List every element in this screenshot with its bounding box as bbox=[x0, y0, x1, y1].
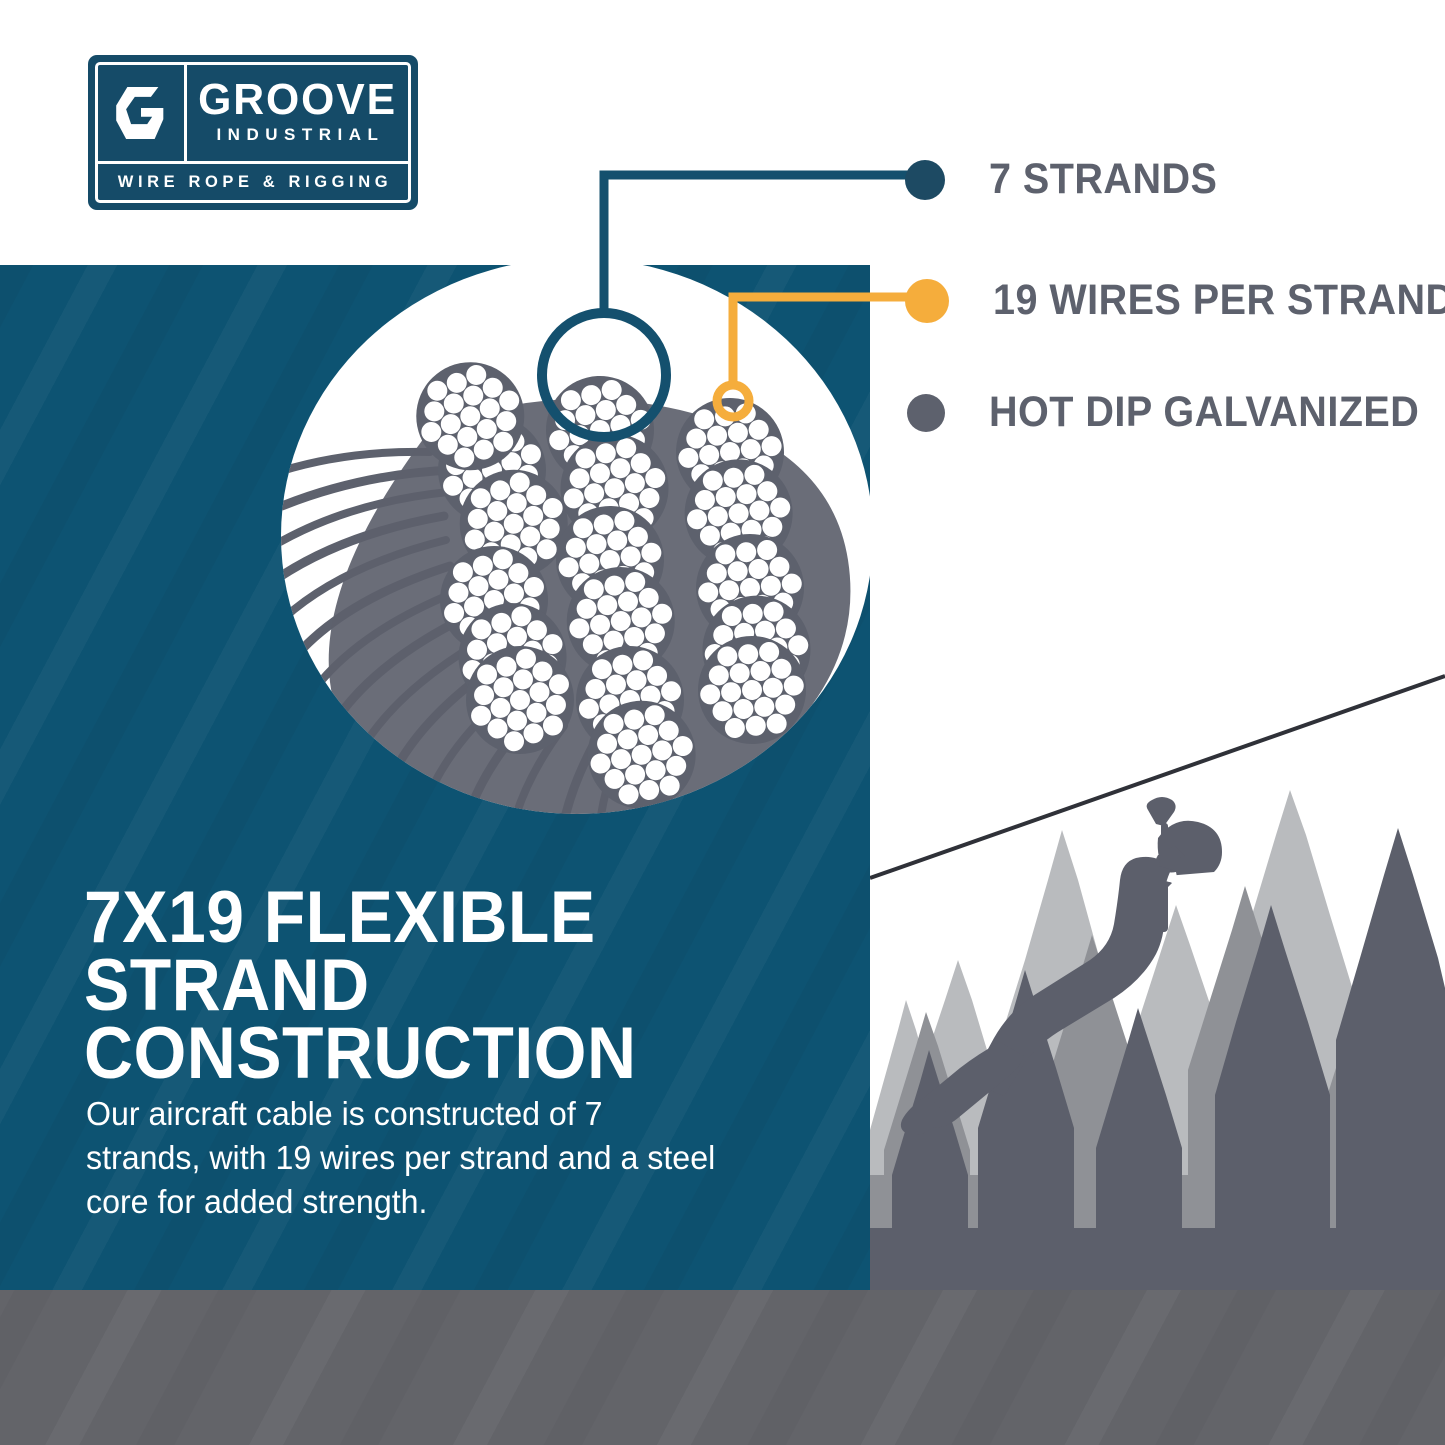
headline-line-2: STRAND CONSTRUCTION bbox=[84, 952, 791, 1088]
callout-label: 7 STRANDS bbox=[989, 155, 1217, 204]
logo-name: GROOVE bbox=[198, 79, 397, 121]
bottom-gray-band bbox=[0, 1290, 1445, 1445]
page-title: 7X19 FLEXIBLE STRAND CONSTRUCTION bbox=[84, 884, 791, 1088]
callout-dot-gray bbox=[907, 394, 945, 432]
logo-wordmark: GROOVE INDUSTRIAL bbox=[187, 65, 408, 161]
callout-19-wires-per-strand: 19 WIRES PER STRAND bbox=[905, 276, 1445, 325]
callout-label: 19 WIRES PER STRAND bbox=[993, 276, 1445, 325]
callout-hot-dip-galvanized: HOT DIP GALVANIZED bbox=[907, 388, 1445, 437]
zipline-cable bbox=[870, 676, 1445, 878]
illustration-circle-backdrop bbox=[281, 258, 873, 814]
callout-label: HOT DIP GALVANIZED bbox=[989, 388, 1419, 437]
body-description: Our aircraft cable is constructed of 7 s… bbox=[86, 1093, 720, 1226]
infographic-canvas: GROOVE INDUSTRIAL WIRE ROPE & RIGGING 7 … bbox=[0, 0, 1445, 1445]
forest-layer-mid bbox=[870, 886, 1445, 1290]
forest-layer-far bbox=[870, 790, 1445, 1290]
logo-subname: INDUSTRIAL bbox=[210, 125, 384, 145]
brand-logo[interactable]: GROOVE INDUSTRIAL WIRE ROPE & RIGGING bbox=[88, 55, 418, 210]
callout-dot-orange bbox=[905, 279, 949, 323]
logo-upper-row: GROOVE INDUSTRIAL bbox=[98, 65, 408, 164]
logo-tagline: WIRE ROPE & RIGGING bbox=[98, 164, 408, 200]
g-hexagon-icon bbox=[98, 65, 187, 161]
forest-layer-near bbox=[870, 828, 1445, 1290]
diagonal-stripe-texture bbox=[0, 1290, 1445, 1445]
callout-dot-navy bbox=[905, 160, 945, 200]
zipline-rider-silhouette bbox=[901, 797, 1222, 1135]
logo-frame: GROOVE INDUSTRIAL WIRE ROPE & RIGGING bbox=[95, 62, 411, 203]
callout-7-strands: 7 STRANDS bbox=[905, 155, 1237, 204]
